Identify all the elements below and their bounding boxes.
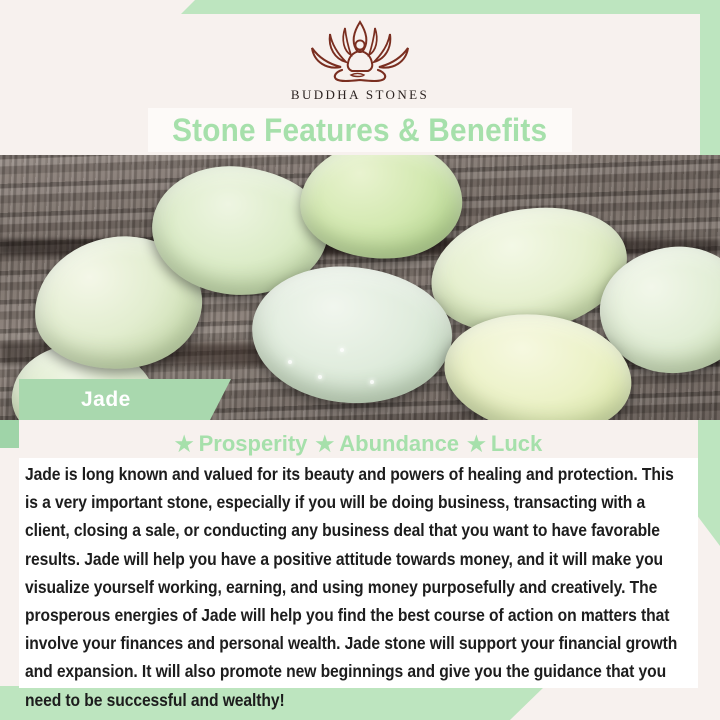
lotus-meditation-icon (296, 18, 424, 84)
title-plate: Stone Features & Benefits (148, 108, 572, 152)
benefit-item: ★ Prosperity (175, 431, 308, 457)
stone-name: Jade (19, 388, 131, 412)
decorative-right-green-tab (696, 418, 720, 546)
stone-name-ribbon: Jade (19, 379, 231, 420)
benefit-label: Luck (491, 431, 542, 457)
benefit-label: Abundance (339, 431, 459, 457)
description-panel: Jade is long known and valued for its be… (19, 458, 698, 688)
highlight-sparkle (288, 360, 292, 364)
star-icon: ★ (467, 434, 486, 455)
benefit-label: Prosperity (199, 431, 308, 457)
page-title: Stone Features & Benefits (172, 112, 547, 149)
brand-name: BUDDHA STONES (291, 87, 429, 103)
benefit-item: ★ Luck (467, 431, 542, 457)
benefits-row: ★ Prosperity ★ Abundance ★ Luck (19, 428, 698, 460)
star-icon: ★ (315, 434, 334, 455)
brand-logo: BUDDHA STONES (0, 18, 720, 103)
highlight-sparkle (370, 380, 374, 384)
highlight-sparkle (318, 375, 322, 379)
highlight-sparkle (340, 348, 344, 352)
benefit-item: ★ Abundance (315, 431, 459, 457)
stone-description: Jade is long known and valued for its be… (25, 460, 689, 714)
star-icon: ★ (175, 434, 194, 455)
stone-info-card: BUDDHA STONES Stone Features & Benefits … (0, 0, 720, 720)
